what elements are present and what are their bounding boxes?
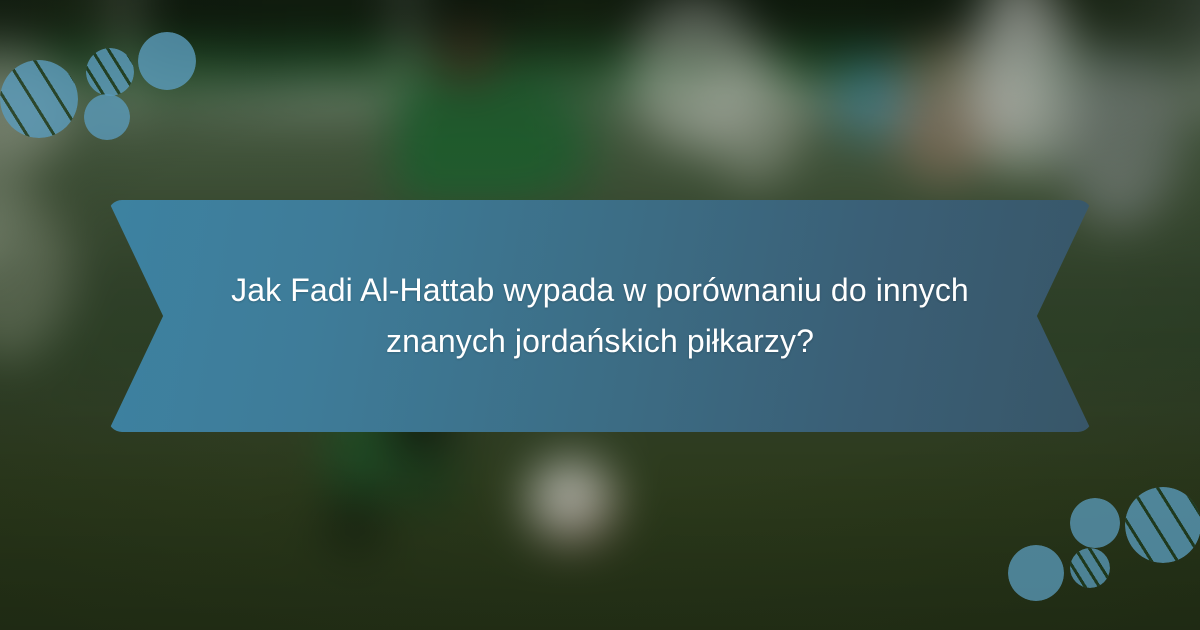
solid-bubble-icon: [1008, 545, 1064, 601]
solid-bubble-icon: [84, 94, 130, 140]
ribbon-banner: Jak Fadi Al-Hattab wypada w porównaniu d…: [108, 200, 1092, 432]
social-share-card: Jak Fadi Al-Hattab wypada w porównaniu d…: [0, 0, 1200, 630]
solid-bubble-icon: [138, 32, 196, 90]
striped-bubble-icon: [86, 48, 134, 96]
striped-bubble-icon: [1070, 548, 1110, 588]
bubble-stripes: [86, 48, 134, 96]
bubble-fill: [1070, 498, 1120, 548]
headline-text: Jak Fadi Al-Hattab wypada w porównaniu d…: [220, 265, 980, 366]
bubble-stripes: [1125, 487, 1200, 563]
striped-bubble-icon: [1125, 487, 1200, 563]
bubble-fill: [1008, 545, 1064, 601]
bubble-fill: [84, 94, 130, 140]
striped-bubble-icon: [0, 60, 78, 138]
bubble-stripes: [0, 60, 78, 138]
solid-bubble-icon: [1070, 498, 1120, 548]
bubble-stripes: [1070, 548, 1110, 588]
bubble-fill: [138, 32, 196, 90]
